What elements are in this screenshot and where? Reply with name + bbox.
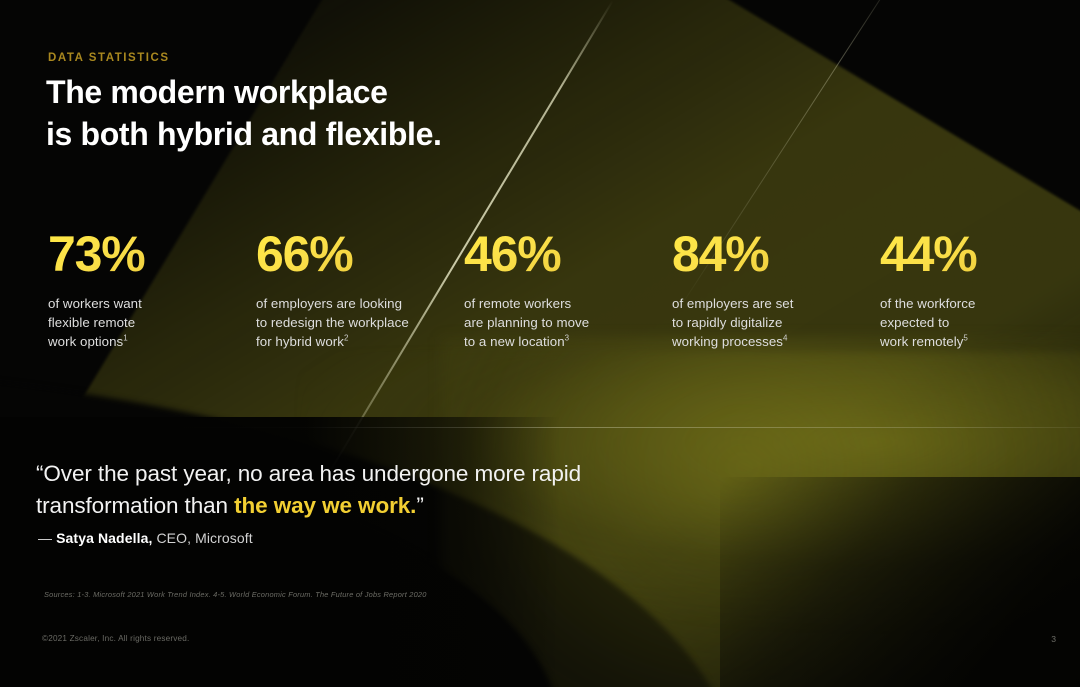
attribution-dash: —: [38, 530, 52, 546]
quote-attribution: — Satya Nadella, CEO, Microsoft: [38, 530, 253, 546]
stat-description: of workers want flexible remote work opt…: [48, 294, 256, 351]
stat-desc-line-1: of the workforce: [880, 296, 975, 311]
stat-description: of employers are looking to redesign the…: [256, 294, 464, 351]
stat-desc-line-1: of employers are set: [672, 296, 793, 311]
stat-item: 66% of employers are looking to redesign…: [256, 228, 464, 351]
stat-value: 66%: [256, 228, 464, 280]
stat-value: 84%: [672, 228, 880, 280]
headline-line-1: The modern workplace: [46, 72, 442, 114]
page-number: 3: [1051, 634, 1056, 644]
pull-quote: “Over the past year, no area has undergo…: [36, 458, 656, 521]
stat-desc-line-3: for hybrid work: [256, 334, 344, 349]
stat-footnote-marker: 4: [783, 334, 788, 343]
presentation-slide: DATA STATISTICS The modern workplace is …: [0, 0, 1080, 687]
stat-value: 46%: [464, 228, 672, 280]
stat-desc-line-3: to a new location: [464, 334, 565, 349]
stat-desc-line-2: flexible remote: [48, 315, 135, 330]
statistics-row: 73% of workers want flexible remote work…: [48, 228, 1038, 351]
quote-highlight: the way we work.: [234, 493, 416, 518]
stat-desc-line-3: work remotely: [880, 334, 963, 349]
stat-footnote-marker: 1: [123, 334, 128, 343]
attribution-name: Satya Nadella,: [56, 530, 152, 546]
section-eyebrow-label: DATA STATISTICS: [48, 52, 170, 64]
stat-description: of the workforce expected to work remote…: [880, 294, 1080, 351]
stat-desc-line-1: of workers want: [48, 296, 142, 311]
stat-value: 44%: [880, 228, 1080, 280]
page-title: The modern workplace is both hybrid and …: [46, 72, 442, 155]
stat-footnote-marker: 3: [565, 334, 570, 343]
slide-content: DATA STATISTICS The modern workplace is …: [0, 0, 1080, 687]
copyright-notice: ©2021 Zscaler, Inc. All rights reserved.: [42, 634, 189, 643]
stat-item: 46% of remote workers are planning to mo…: [464, 228, 672, 351]
stat-item: 84% of employers are set to rapidly digi…: [672, 228, 880, 351]
stat-description: of remote workers are planning to move t…: [464, 294, 672, 351]
stat-description: of employers are set to rapidly digitali…: [672, 294, 880, 351]
sources-footnote: Sources: 1-3. Microsoft 2021 Work Trend …: [44, 590, 427, 599]
headline-line-2: is both hybrid and flexible.: [46, 114, 442, 156]
stat-footnote-marker: 2: [344, 334, 349, 343]
stat-desc-line-3: work options: [48, 334, 123, 349]
stat-desc-line-1: of employers are looking: [256, 296, 402, 311]
stat-item: 73% of workers want flexible remote work…: [48, 228, 256, 351]
stat-desc-line-2: to redesign the workplace: [256, 315, 409, 330]
stat-value: 73%: [48, 228, 256, 280]
stat-desc-line-2: are planning to move: [464, 315, 589, 330]
stat-item: 44% of the workforce expected to work re…: [880, 228, 1080, 351]
attribution-role: CEO, Microsoft: [156, 530, 252, 546]
quote-close-mark: ”: [416, 493, 423, 518]
stat-desc-line-2: expected to: [880, 315, 949, 330]
stat-footnote-marker: 5: [963, 334, 968, 343]
stat-desc-line-2: to rapidly digitalize: [672, 315, 782, 330]
stat-desc-line-3: working processes: [672, 334, 783, 349]
stat-desc-line-1: of remote workers: [464, 296, 571, 311]
